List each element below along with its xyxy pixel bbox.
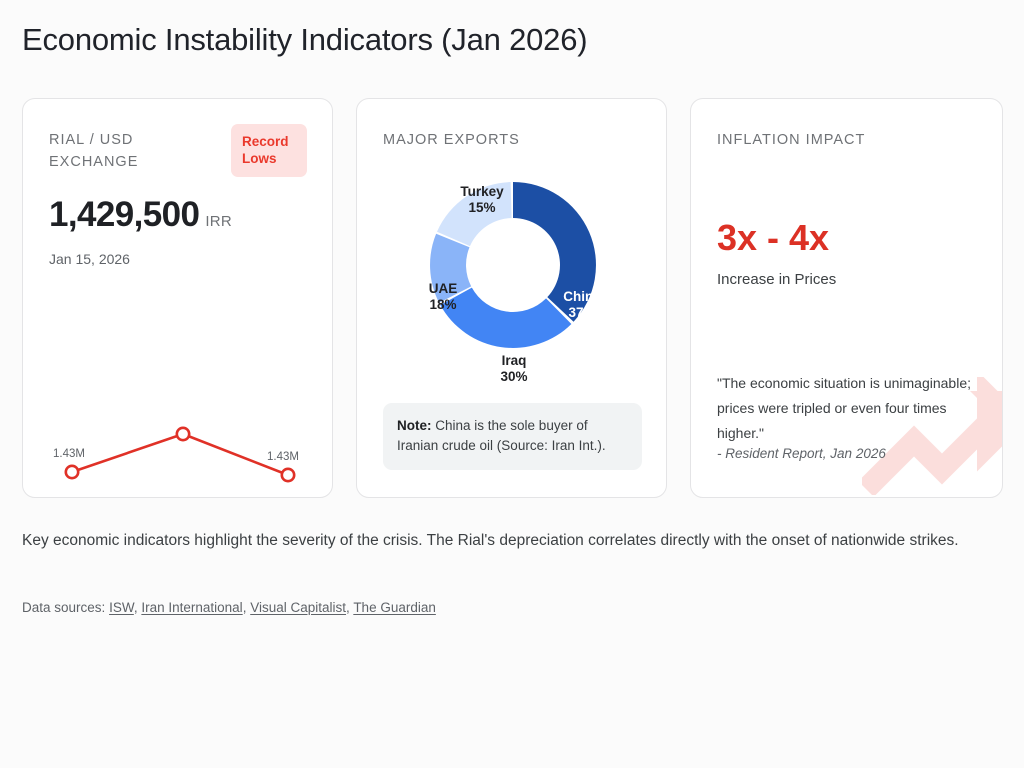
exports-note: Note: China is the sole buyer of Iranian… [383,403,642,470]
exports-note-label: Note: [397,418,432,433]
donut-label-uae-value: 18% [429,297,456,312]
card-inflation-impact: INFLATION IMPACT 3x - 4x Increase in Pri… [690,98,1003,498]
sources-sep-1: , [134,600,138,615]
exchange-rate-value: 1,429,500IRR [49,195,232,235]
donut-label-iraq: Iraq 30% [475,353,553,385]
exchange-rate-unit: IRR [205,213,232,230]
sparkline-chart: 1.43M 1.43M Dec 28 Jan 6 Jan 15 [23,344,333,484]
card-major-exports: MAJOR EXPORTS China 37% Ira [356,98,667,498]
infographic-page: Economic Instability Indicators (Jan 202… [0,0,1024,768]
donut-label-turkey-value: 15% [468,200,495,215]
donut-label-china-value: 37% [568,305,595,320]
data-sources-line: Data sources: ISW, Iran International, V… [22,600,436,615]
source-link-the-guardian[interactable]: The Guardian [353,600,436,615]
donut-label-uae: UAE 18% [404,281,482,313]
inflation-multiplier-value: 3x - 4x [717,217,829,259]
page-title: Economic Instability Indicators (Jan 202… [22,22,587,58]
donut-label-turkey-name: Turkey [460,184,503,199]
sparkline-point-1 [177,428,189,440]
resident-quote: "The economic situation is unimaginable;… [717,371,979,446]
data-sources-label: Data sources: [22,600,105,615]
donut-label-china: China 37% [543,289,621,321]
sparkline-value-label-end: 1.43M [267,451,299,463]
card-title-inflation: INFLATION IMPACT [717,129,887,151]
card-title-exports: MAJOR EXPORTS [383,129,553,151]
donut-label-turkey: Turkey 15% [443,184,521,216]
donut-label-uae-name: UAE [429,281,458,296]
summary-paragraph: Key economic indicators highlight the se… [22,528,994,554]
donut-label-iraq-name: Iraq [502,353,527,368]
source-link-iran-international[interactable]: Iran International [141,600,242,615]
exchange-rate-number: 1,429,500 [49,195,199,234]
donut-label-china-name: China [563,289,601,304]
sparkline-svg [23,344,333,484]
exchange-rate-date: Jan 15, 2026 [49,251,130,267]
sparkline-point-0 [66,466,78,478]
donut-label-iraq-value: 30% [500,369,527,384]
sources-sep-2: , [243,600,247,615]
sources-sep-3: , [346,600,350,615]
resident-quote-attribution: - Resident Report, Jan 2026 [717,446,886,461]
source-link-visual-capitalist[interactable]: Visual Capitalist [250,600,346,615]
card-title-exchange: RIAL / USD EXCHANGE [49,129,219,173]
card-rial-usd-exchange: RIAL / USD EXCHANGE Record Lows 1,429,50… [22,98,333,498]
donut-chart: China 37% Iraq 30% UAE 18% Turkey 15% [357,167,667,382]
inflation-caption: Increase in Prices [717,271,836,288]
sparkline-point-2 [282,469,294,481]
sparkline-value-label-start: 1.43M [53,448,85,460]
source-link-isw[interactable]: ISW [109,600,134,615]
status-badge-record-lows: Record Lows [231,124,307,177]
